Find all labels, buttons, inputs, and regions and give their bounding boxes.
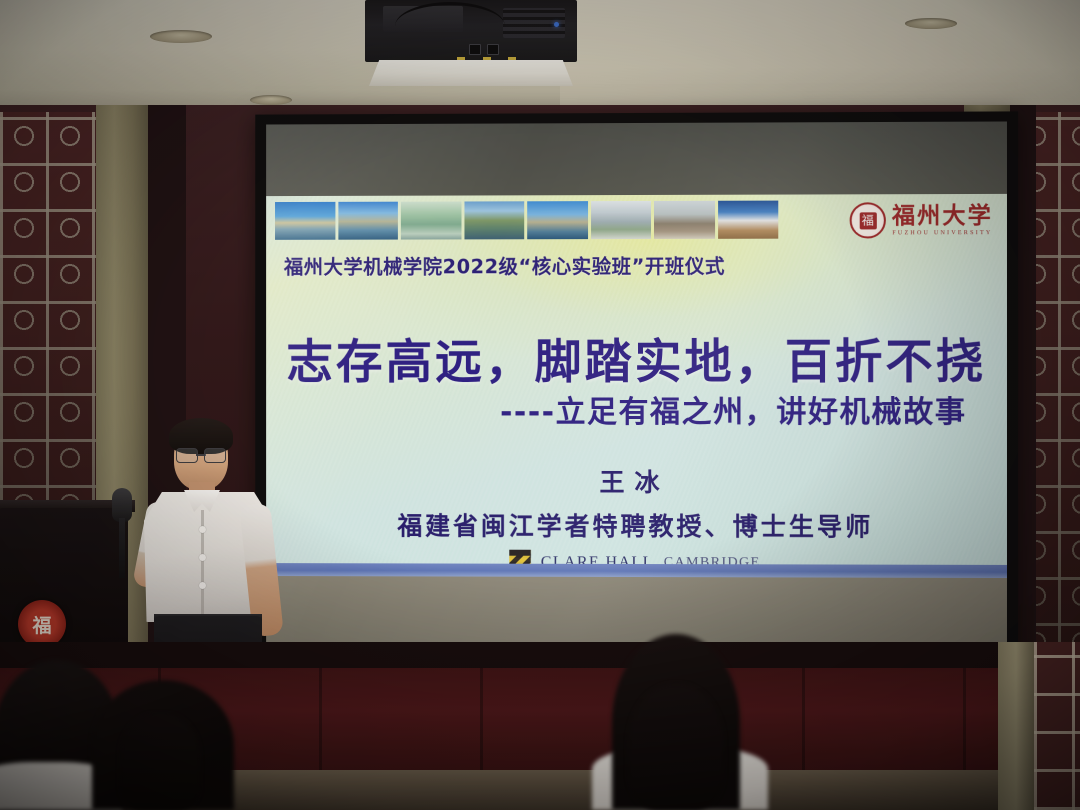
slide-event-subtitle: 福州大学机械学院2022级“核心实验班”开班仪式 — [284, 250, 725, 280]
slide-bottom-bar — [266, 563, 1007, 578]
seal-character: 福 — [859, 212, 876, 229]
projection-letterbox-top — [266, 121, 1007, 196]
campus-photo — [275, 202, 335, 240]
foreground-lattice-right — [1034, 642, 1080, 810]
ceiling-right-section — [560, 0, 1080, 112]
shirt-button — [199, 554, 206, 561]
campus-photo-strip — [275, 201, 778, 240]
university-seal-icon: 福 — [850, 202, 886, 238]
campus-photo — [401, 202, 461, 240]
projector-port — [487, 44, 499, 55]
campus-photo — [527, 201, 587, 239]
presentation-slide: 福 福州大学 FUZHOU UNIVERSITY 福州大学机械学院2022级“核… — [266, 194, 1007, 578]
campus-photo — [338, 202, 398, 240]
slide-speaker-name: 王冰 — [266, 463, 1007, 500]
podium-university-emblem: 福 — [18, 600, 66, 648]
microphone-stem — [119, 518, 125, 578]
recessed-light-icon — [905, 18, 957, 29]
projection-screen: 福 福州大学 FUZHOU UNIVERSITY 福州大学机械学院2022级“核… — [255, 111, 1018, 677]
campus-photo — [654, 201, 715, 239]
slide-main-title: 志存高远，脚踏实地，百折不挠 — [266, 323, 1007, 392]
campus-photo — [718, 201, 779, 239]
podium-emblem-character: 福 — [32, 611, 51, 638]
presenter-glasses-icon — [176, 448, 226, 461]
projector-lens-housing — [369, 60, 573, 86]
projector-body — [365, 0, 577, 62]
audience-hair — [120, 714, 200, 810]
projection-screen-surface: 福 福州大学 FUZHOU UNIVERSITY 福州大学机械学院2022级“核… — [266, 121, 1007, 666]
ceiling-projector — [365, 0, 577, 86]
lecture-hall-photo: 福 福州大学 FUZHOU UNIVERSITY 福州大学机械学院2022级“核… — [0, 0, 1080, 810]
university-name-en: FUZHOU UNIVERSITY — [892, 230, 992, 236]
slide-speaker-title: 福建省闽江学者特聘教授、博士生导师 — [266, 506, 1007, 543]
foreground-upper-shadow — [0, 642, 1080, 668]
audience-head — [628, 684, 724, 810]
campus-photo — [591, 201, 651, 239]
recessed-light-icon — [250, 95, 292, 105]
shirt-button — [199, 526, 206, 533]
handheld-microphone — [112, 488, 132, 548]
fuzhou-university-logo: 福 福州大学 FUZHOU UNIVERSITY — [850, 200, 993, 241]
slide-secondary-title: ----立足有福之州，讲好机械故事 — [266, 387, 997, 431]
recessed-light-icon — [150, 30, 212, 43]
campus-photo — [464, 201, 524, 239]
university-name-cn: 福州大学 — [892, 204, 993, 227]
microphone-head-icon — [112, 488, 132, 522]
shirt-button — [199, 582, 206, 589]
projector-power-led-icon — [554, 22, 559, 27]
projector-port — [469, 44, 481, 55]
foreground-pillar-right — [998, 642, 1034, 810]
